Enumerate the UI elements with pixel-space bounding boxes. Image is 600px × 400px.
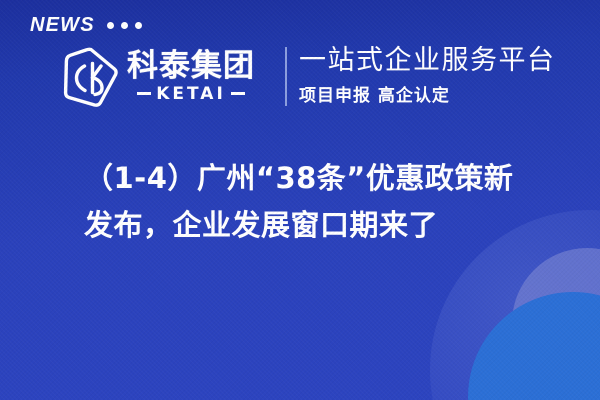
headline: （1-4）广州“38条”优惠政策新 发布，企业发展窗口期来了	[84, 155, 584, 249]
headline-line-1: （1-4）广州“38条”优惠政策新	[84, 155, 584, 202]
tagline-block: 一站式企业服务平台 项目申报 高企认定	[299, 44, 556, 106]
brand-divider	[285, 47, 287, 106]
news-label-row: NEWS	[30, 14, 142, 37]
brand-name-en: KETAI	[156, 84, 226, 104]
dash-left-icon	[137, 92, 151, 95]
ketai-diamond-monogram-icon	[60, 44, 122, 110]
news-banner: NEWS 科泰集团 KETAI	[0, 0, 600, 400]
tagline-sub: 项目申报 高企认定	[299, 81, 556, 106]
dot-icon	[107, 22, 114, 29]
brand-lockup: 科泰集团 KETAI	[60, 44, 255, 110]
brand-wordmark: 科泰集团 KETAI	[127, 50, 255, 104]
dot-icon	[135, 22, 142, 29]
news-label: NEWS	[30, 14, 95, 37]
dot-icon	[121, 22, 128, 29]
tagline-main: 一站式企业服务平台	[299, 44, 556, 78]
brand-name-en-row: KETAI	[137, 84, 245, 104]
news-dots-decoration	[107, 22, 142, 29]
dash-right-icon	[231, 92, 245, 95]
headline-line-2: 发布，企业发展窗口期来了	[84, 202, 584, 249]
brand-name-cn: 科泰集团	[127, 50, 255, 83]
